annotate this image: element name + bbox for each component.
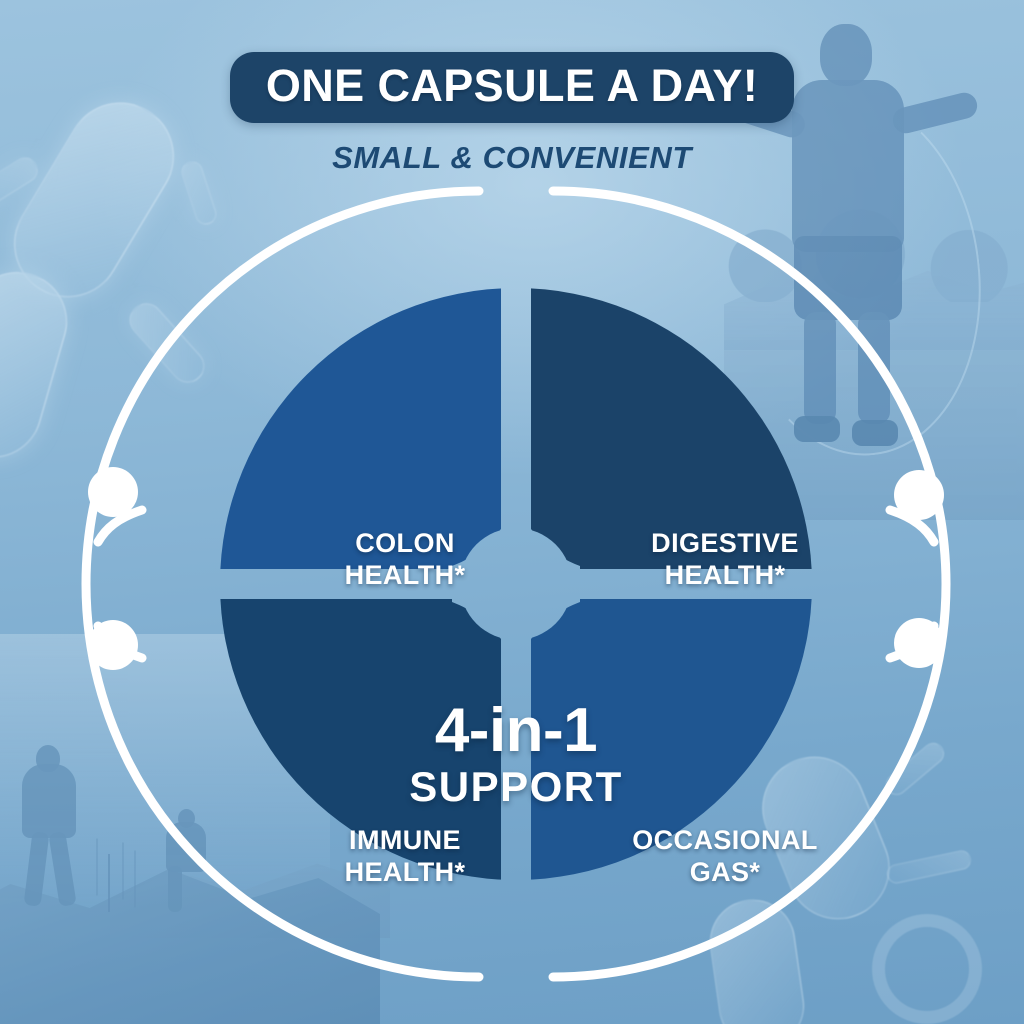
- page-title: ONE CAPSULE A DAY!: [266, 63, 758, 108]
- header-group: ONE CAPSULE A DAY! SMALL & CONVENIENT: [0, 52, 1024, 176]
- node-dot-bottom-right[interactable]: [894, 618, 944, 668]
- quadrant-digestive[interactable]: [516, 288, 812, 584]
- four-in-one-wheel: COLON HEALTH* DIGESTIVE HEALTH* IMMUNE H…: [112, 180, 920, 988]
- quadrant-pie: [220, 288, 812, 880]
- quadrant-immune[interactable]: [220, 584, 516, 880]
- page-subtitle: SMALL & CONVENIENT: [0, 140, 1024, 176]
- node-dot-top-left[interactable]: [88, 467, 138, 517]
- title-pill: ONE CAPSULE A DAY!: [230, 52, 794, 123]
- infographic-canvas: ONE CAPSULE A DAY! SMALL & CONVENIENT: [0, 0, 1024, 1024]
- node-dot-bottom-left[interactable]: [88, 620, 138, 670]
- quadrant-colon[interactable]: [220, 288, 516, 584]
- quadrant-gas[interactable]: [516, 584, 812, 880]
- node-dot-top-right[interactable]: [894, 470, 944, 520]
